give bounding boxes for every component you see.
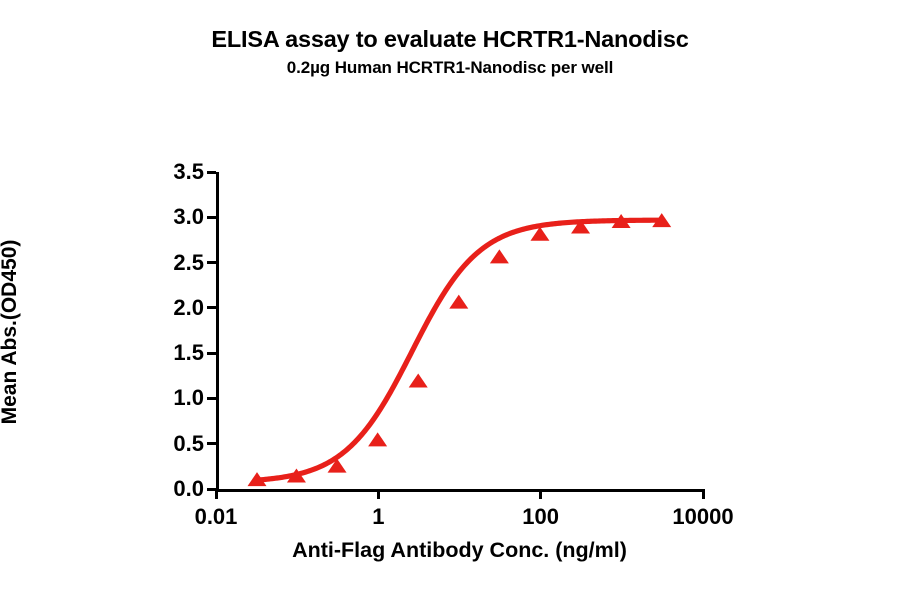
data-point-marker xyxy=(368,432,387,446)
y-axis-tick-label: 1.0 xyxy=(173,385,204,411)
chart-title: ELISA assay to evaluate HCRTR1-Nanodisc xyxy=(0,26,900,54)
y-axis-title-text: Mean Abs.(OD450) xyxy=(0,172,22,492)
data-point-marker xyxy=(449,295,468,309)
x-axis-tick-label: 10000 xyxy=(672,504,733,530)
data-point-marker xyxy=(490,249,509,263)
chart-figure: ELISA assay to evaluate HCRTR1-Nanodisc … xyxy=(0,0,900,594)
y-axis-tick xyxy=(207,261,216,264)
title-block: ELISA assay to evaluate HCRTR1-Nanodisc … xyxy=(0,26,900,78)
y-axis-tick-label: 1.5 xyxy=(173,340,204,366)
data-point-marker xyxy=(409,373,428,387)
data-markers xyxy=(248,213,672,486)
y-axis-tick xyxy=(207,306,216,309)
y-axis-tick-label: 3.5 xyxy=(173,159,204,185)
y-axis-tick-label: 3.0 xyxy=(173,204,204,230)
y-axis-tick xyxy=(207,216,216,219)
data-layer xyxy=(216,172,703,492)
chart-subtitle: 0.2µg Human HCRTR1-Nanodisc per well xyxy=(0,58,900,78)
plot-area: 0.00.51.01.52.02.53.03.5 0.01110010000 xyxy=(216,172,703,492)
y-axis-tick-label: 2.5 xyxy=(173,250,204,276)
x-axis-tick-label: 1 xyxy=(372,504,384,530)
y-axis-tick xyxy=(207,171,216,174)
y-axis-tick xyxy=(207,442,216,445)
y-axis-title: Mean Abs.(OD450) xyxy=(0,172,22,492)
x-axis-tick-label: 100 xyxy=(522,504,559,530)
y-axis-tick-label: 0.0 xyxy=(173,476,204,502)
y-axis-tick xyxy=(207,397,216,400)
x-axis-tick-label: 0.01 xyxy=(195,504,238,530)
y-axis-tick-label: 0.5 xyxy=(173,431,204,457)
x-axis-title: Anti-Flag Antibody Conc. (ng/ml) xyxy=(216,538,703,563)
fit-curve xyxy=(257,220,662,480)
y-axis-tick-label: 2.0 xyxy=(173,295,204,321)
y-axis-tick xyxy=(207,352,216,355)
